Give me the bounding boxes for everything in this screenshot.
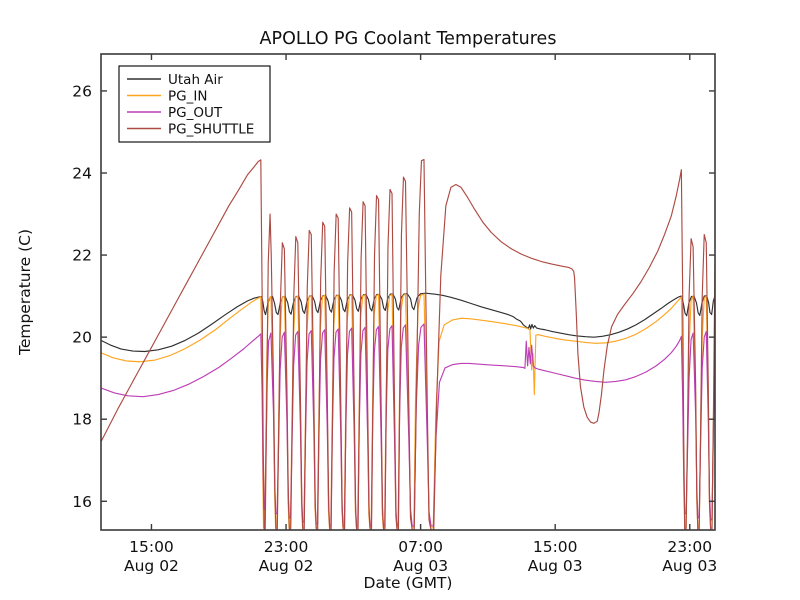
- y-tick-label-22: 22: [72, 247, 92, 265]
- x-tick-label-time-2: 07:00: [398, 538, 443, 556]
- x-axis-label: Date (GMT): [364, 574, 453, 592]
- x-tick-label-date-1: Aug 02: [259, 557, 314, 575]
- y-tick-label-20: 20: [72, 329, 92, 347]
- temperature-time-series-chart: APOLLO PG Coolant Temperatures 161820222…: [0, 0, 800, 600]
- legend-label-pg-shuttle: PG_SHUTTLE: [168, 122, 254, 138]
- y-axis-label: Temperature (C): [16, 229, 34, 356]
- legend-label-utah-air: Utah Air: [168, 72, 223, 88]
- chart-figure: APOLLO PG Coolant Temperatures 161820222…: [0, 0, 800, 600]
- x-tick-label-time-3: 15:00: [533, 538, 578, 556]
- x-tick-label-date-0: Aug 02: [124, 557, 179, 575]
- x-tick-label-time-1: 23:00: [264, 538, 309, 556]
- chart-title: APOLLO PG Coolant Temperatures: [260, 29, 557, 49]
- x-tick-label-date-3: Aug 03: [528, 557, 583, 575]
- y-tick-label-26: 26: [72, 82, 92, 100]
- y-tick-label-24: 24: [72, 165, 92, 183]
- y-tick-label-16: 16: [72, 493, 92, 511]
- legend-label-pg-in: PG_IN: [168, 89, 207, 105]
- legend-label-pg-out: PG_OUT: [168, 105, 223, 121]
- chart-legend: Utah AirPG_INPG_OUTPG_SHUTTLE: [119, 66, 270, 142]
- x-tick-label-date-4: Aug 03: [662, 557, 717, 575]
- y-tick-label-18: 18: [72, 411, 92, 429]
- x-tick-label-time-4: 23:00: [667, 538, 712, 556]
- x-tick-label-time-0: 15:00: [129, 538, 174, 556]
- x-tick-label-date-2: Aug 03: [393, 557, 448, 575]
